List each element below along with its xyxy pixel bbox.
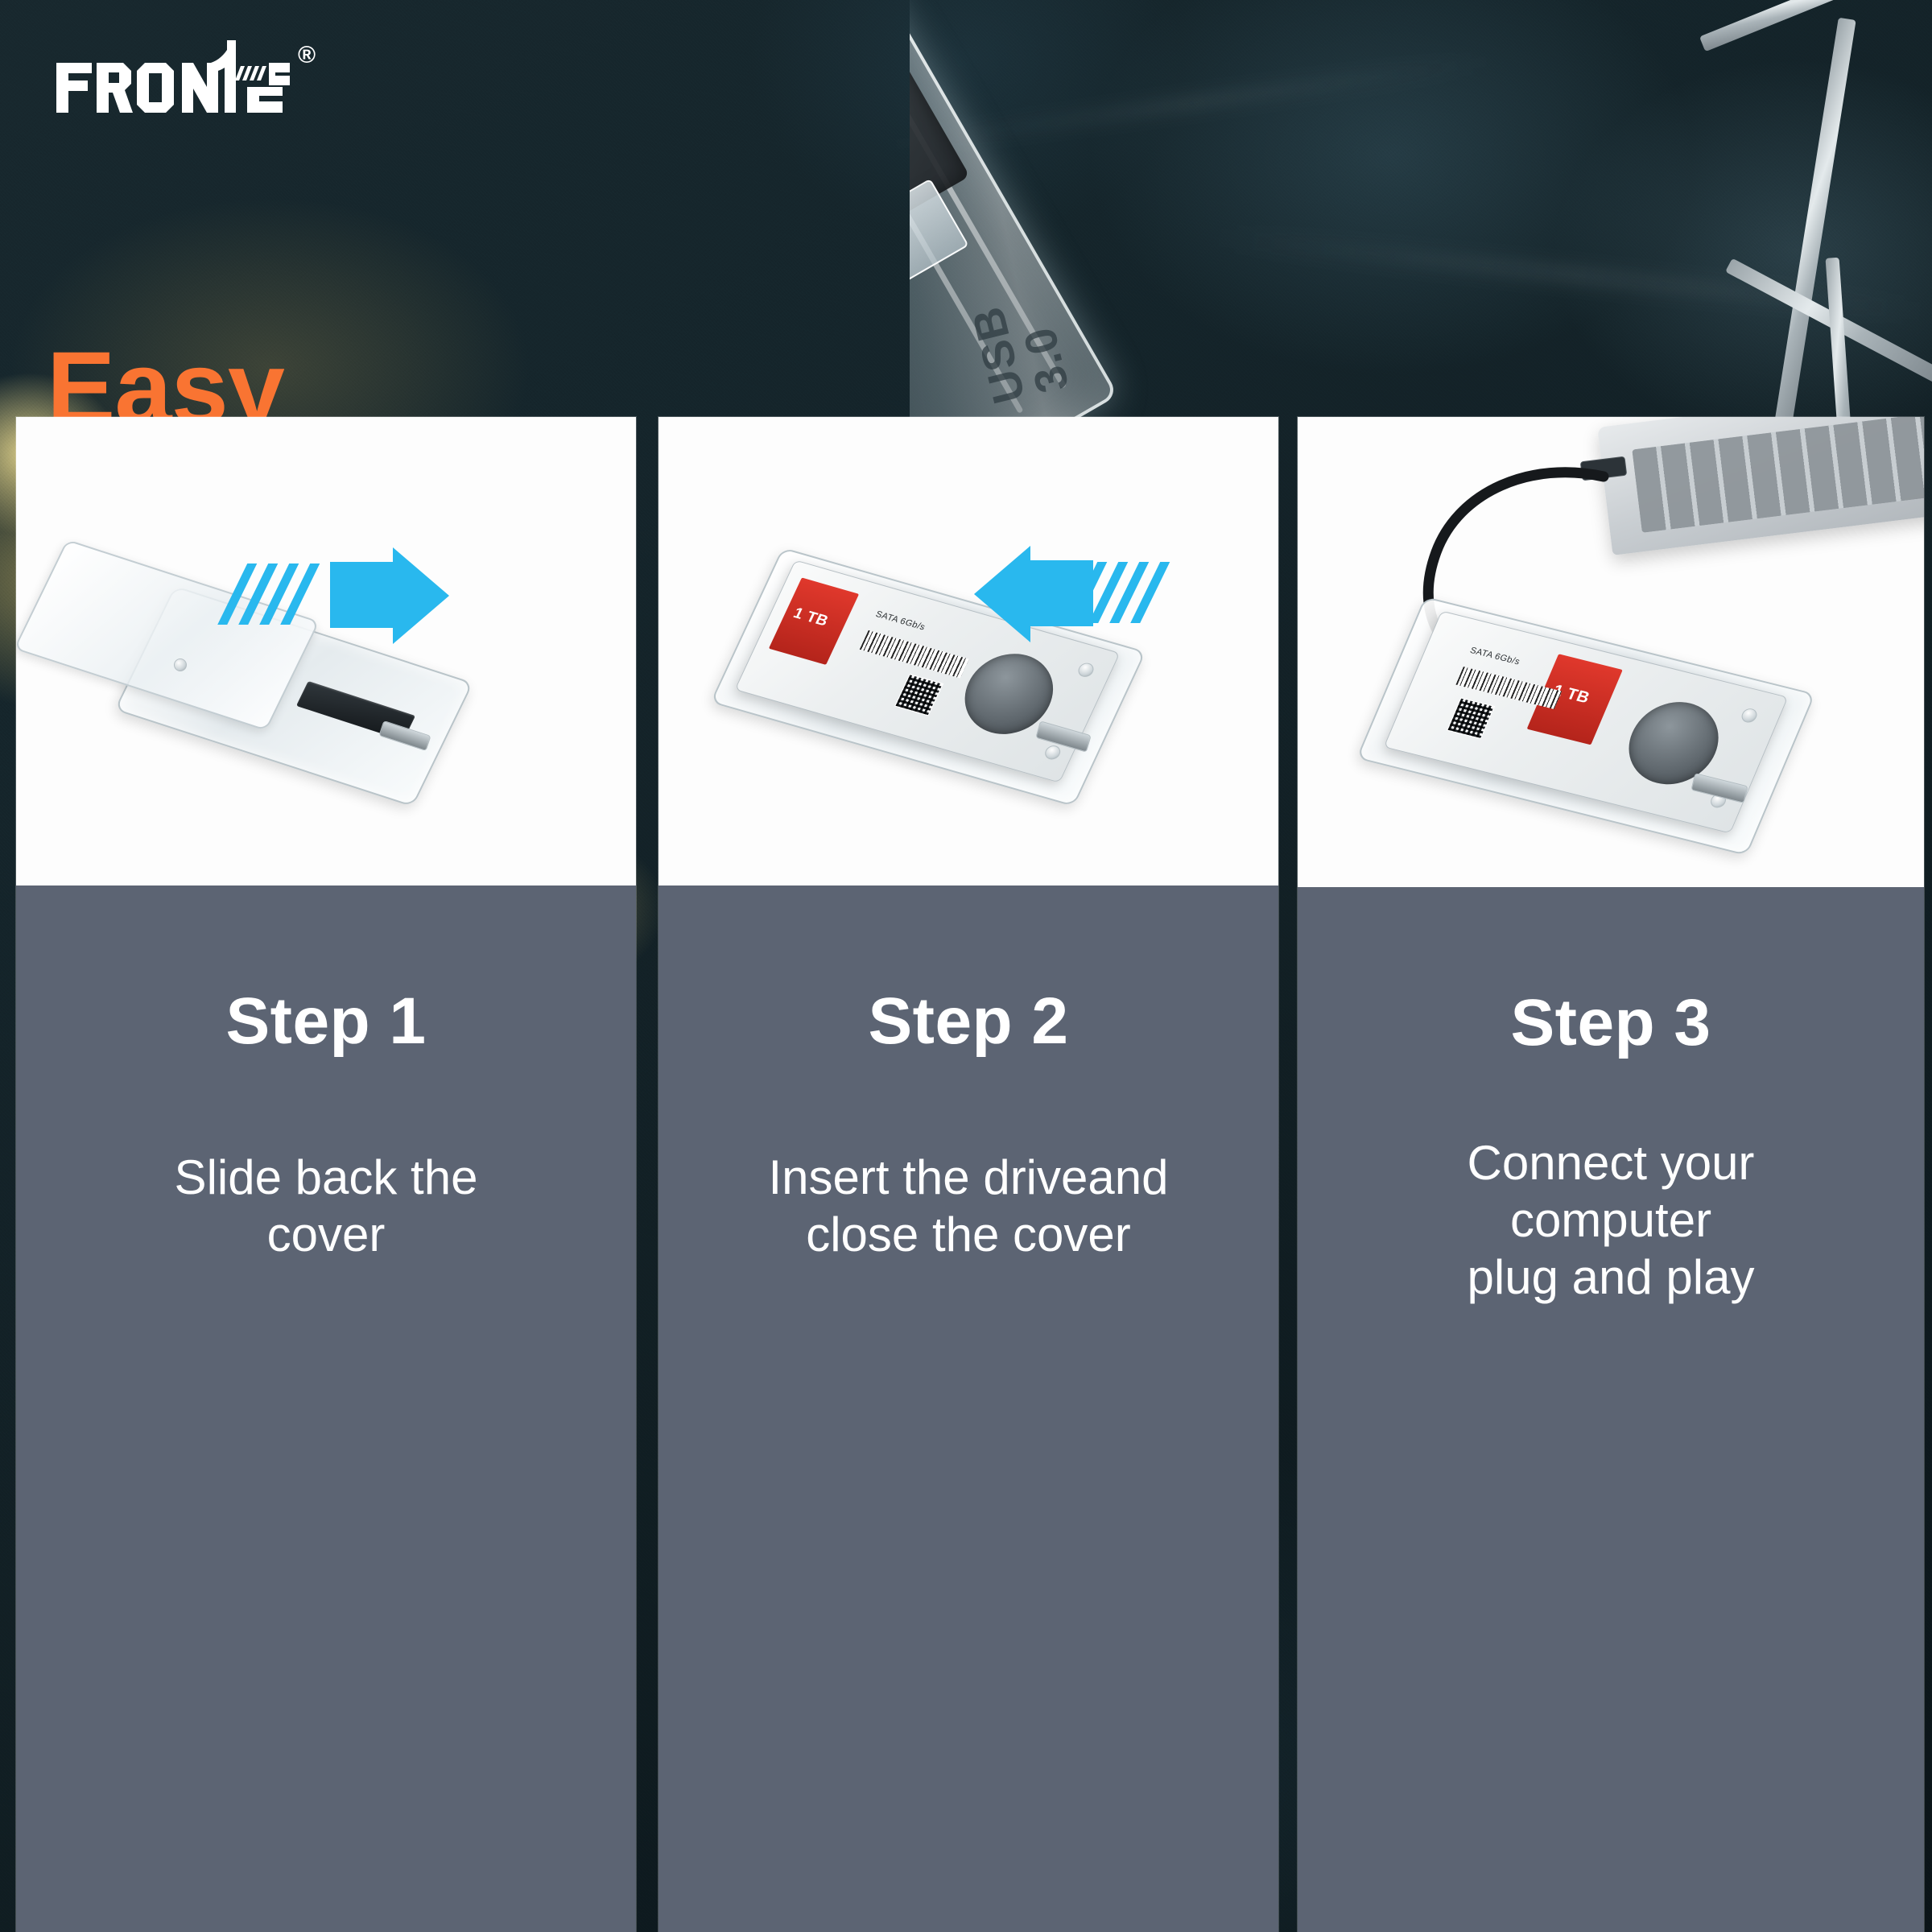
frontech-wordmark-logo xyxy=(55,39,296,116)
step-1-photo xyxy=(16,417,636,885)
screw-head xyxy=(1075,661,1096,678)
step-2-caption: Step 2 Insert the driveand close the cov… xyxy=(658,885,1278,1932)
step-1-description: Slide back the cover xyxy=(142,1150,510,1264)
step-2-photo: 1 TB SATA 6Gb/s xyxy=(658,417,1278,885)
screw-head xyxy=(174,658,187,671)
drive-barcode xyxy=(860,630,969,679)
direction-arrow-right xyxy=(250,546,459,658)
screw-head xyxy=(1740,707,1760,724)
brand-logo: ® xyxy=(55,39,320,127)
step-card-1: Step 1 Slide back the cover xyxy=(16,417,636,1932)
registered-trademark-mark: ® xyxy=(298,43,316,68)
step-3-caption: Step 3 Connect your computer plug and pl… xyxy=(1298,887,1924,1932)
step-1-title: Step 1 xyxy=(225,989,426,1055)
installation-steps: Step 1 Slide back the cover 1 TB SATA 6G… xyxy=(0,417,1932,1932)
screw-head xyxy=(1042,744,1063,761)
step-card-2: 1 TB SATA 6Gb/s xyxy=(658,417,1278,1932)
step-card-3: 1 TB SATA 6Gb/s Step 3 Connect your comp… xyxy=(1298,417,1924,1932)
metal-stand-bar xyxy=(1699,0,1885,52)
drive-interface-label: SATA 6Gb/s xyxy=(874,609,927,632)
step-3-title: Step 3 xyxy=(1510,990,1711,1056)
direction-arrow-left xyxy=(964,544,1174,657)
enclosure-usb-label: USB 3.0 xyxy=(965,291,1076,408)
drive-qr-code xyxy=(1447,697,1495,739)
drive-interface-label: SATA 6Gb/s xyxy=(1468,646,1521,667)
step-3-description: Connect your computer plug and play xyxy=(1435,1135,1787,1306)
step-3-photo: 1 TB SATA 6Gb/s xyxy=(1298,417,1924,887)
step-2-description: Insert the driveand close the cover xyxy=(737,1150,1201,1264)
step-1-caption: Step 1 Slide back the cover xyxy=(16,885,636,1932)
step-2-title: Step 2 xyxy=(868,989,1068,1055)
drive-qr-code xyxy=(894,674,943,716)
